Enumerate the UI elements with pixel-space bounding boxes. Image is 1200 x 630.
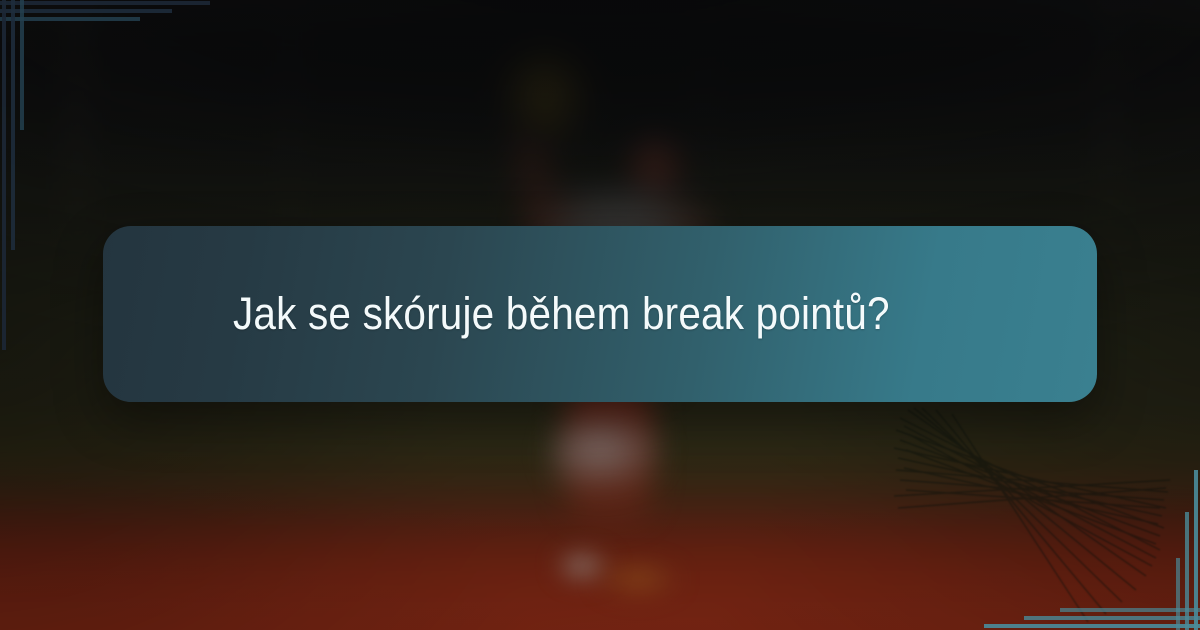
headline-card: Jak se skóruje během break pointů? — [103, 226, 1097, 402]
player-shorts-blur — [552, 418, 664, 492]
bracket-line-horizontal-2 — [0, 9, 172, 13]
bracket-line-vertical-3 — [1176, 558, 1180, 630]
bracket-line-horizontal-1 — [0, 1, 210, 5]
bracket-line-horizontal-3 — [1060, 608, 1200, 612]
radiating-strings-icon — [860, 400, 1200, 630]
bracket-line-vertical-1 — [1194, 470, 1198, 630]
bracket-line-horizontal-1 — [984, 624, 1200, 628]
player-shoe-right-blur — [598, 562, 678, 596]
og-card-canvas: Jak se skóruje během break pointů? — [0, 0, 1200, 630]
bracket-line-horizontal-3 — [0, 17, 140, 21]
bracket-line-vertical-3 — [20, 0, 24, 130]
bracket-line-horizontal-2 — [1024, 616, 1200, 620]
bracket-line-vertical-2 — [11, 0, 15, 250]
page-title: Jak se skóruje během break pointů? — [233, 287, 890, 340]
player-head-blur — [625, 132, 687, 206]
decoration-bottom-right-bracket — [970, 430, 1200, 630]
player-shoe-left-blur — [556, 548, 614, 584]
racket-head-blur — [500, 40, 590, 150]
bracket-line-vertical-1 — [2, 0, 6, 350]
bracket-line-vertical-2 — [1185, 512, 1189, 630]
